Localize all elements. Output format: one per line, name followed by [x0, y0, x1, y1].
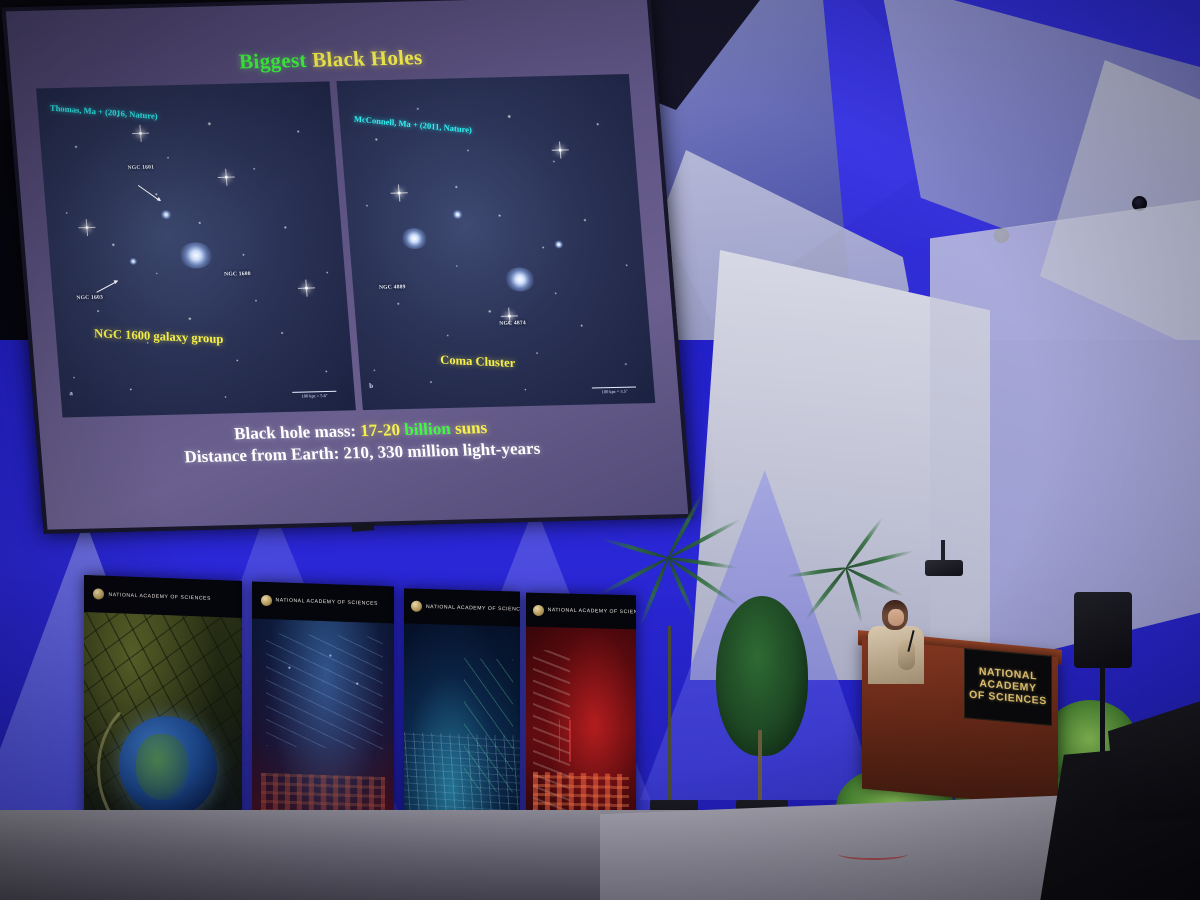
galaxy-label-ngc-1600: NGC 1600 [224, 271, 251, 278]
banner-header-text: NATIONAL ACADEMY OF SCIENCES [108, 592, 210, 602]
screen-frame: Biggest Black Holes Thomas, Ma + (2016, … [1, 0, 692, 534]
conference-hall-photo: Biggest Black Holes Thomas, Ma + (2016, … [0, 0, 1200, 900]
network-globe-graphic [266, 633, 382, 750]
banner-header: NATIONAL ACADEMY OF SCIENCES [252, 582, 394, 624]
galaxy-member [452, 210, 463, 219]
stage-cable [838, 848, 908, 860]
projection-screen-assembly: Biggest Black Holes Thomas, Ma + (2016, … [0, 0, 706, 548]
projected-slide: Biggest Black Holes Thomas, Ma + (2016, … [6, 0, 689, 530]
star-icon [139, 132, 142, 135]
nas-seal-icon [411, 601, 422, 612]
star-icon [398, 192, 401, 195]
ekg-waveform-icon [544, 719, 630, 762]
scale-bar-right: 100 kpc = 3.5" [592, 387, 637, 395]
slide-image-panels: Thomas, Ma + (2016, Nature) NGC 1601 NGC… [36, 74, 655, 417]
footer-mass-suns: suns [454, 418, 488, 438]
caption-ngc-1600-group: NGC 1600 galaxy group [94, 327, 223, 348]
galaxy-ngc-1600 [178, 242, 214, 269]
galaxy-ngc-1601 [160, 210, 172, 219]
galaxy-ngc-4889 [401, 227, 429, 249]
scale-bar-label: 100 kpc = 3.5" [601, 389, 627, 395]
panel-letter-a: a [69, 389, 73, 397]
speaker-torso [868, 626, 924, 684]
slide-title: Biggest Black Holes [9, 40, 652, 81]
ceiling-camera [925, 560, 963, 576]
podium-plaque: NATIONAL ACADEMY OF SCIENCES [964, 648, 1052, 726]
scale-bar-left: 100 kpc = 5.6" [292, 391, 337, 399]
astro-panel-right: McConnell, Ma + (2011, Nature) NGC 4889 … [336, 74, 655, 410]
galaxy-label-ngc-4889: NGC 4889 [379, 284, 406, 291]
speaker-arm [898, 640, 915, 670]
footer-mass-range: 17-20 [360, 420, 401, 440]
palm-tree-right [846, 566, 848, 766]
galaxy-ngc-4874 [504, 267, 536, 292]
banner-header-text: NATIONAL ACADEMY OF SCIENCES [276, 598, 378, 608]
banner-header: NATIONAL ACADEMY OF SCIENCES [84, 575, 242, 619]
galaxy-label-ngc-4874: NGC 4874 [499, 320, 526, 327]
label-arrow [96, 280, 117, 292]
wall-white-panel-right [930, 200, 1200, 680]
banner-header-text: NATIONAL ACADEMY OF SCIENCES [426, 604, 520, 613]
galaxy-label-ngc-1601: NGC 1601 [127, 165, 154, 172]
panel-letter-b: b [369, 382, 374, 390]
slide-title-yellow: Black Holes [311, 45, 423, 72]
palm-tree-left [668, 556, 670, 816]
pa-loudspeaker [1074, 592, 1132, 668]
speaker-face [888, 609, 904, 626]
galaxy-ngc-1603 [129, 257, 138, 264]
camera-mount-arm [941, 540, 945, 562]
star-icon [225, 176, 228, 179]
star-icon [507, 314, 510, 317]
banner-header-text: NATIONAL ACADEMY OF SCIENCES [548, 607, 636, 616]
caption-coma-cluster: Coma Cluster [441, 353, 516, 371]
slide-title-green: Biggest [238, 48, 307, 74]
nas-seal-icon [261, 595, 272, 606]
star-icon [558, 148, 561, 151]
star-icon [304, 286, 307, 289]
nas-seal-icon [93, 589, 104, 600]
footer-mass-label: Black hole mass: [233, 421, 357, 443]
banner-header: NATIONAL ACADEMY OF SCIENCES [404, 588, 520, 627]
speaker-person [868, 600, 924, 680]
slide-footer-text: Black hole mass: 17-20 billion suns Dist… [39, 412, 683, 471]
footer-mass-billion: billion [404, 419, 452, 439]
galaxy-member [554, 240, 564, 248]
scale-bar-label: 100 kpc = 5.6" [301, 393, 327, 399]
banner-header: NATIONAL ACADEMY OF SCIENCES [526, 593, 636, 630]
label-arrow [137, 185, 159, 201]
galaxy-label-ngc-1603: NGC 1603 [76, 295, 103, 302]
star-icon [85, 226, 88, 229]
ficus-tree [716, 596, 808, 756]
astro-panel-left: Thomas, Ma + (2016, Nature) NGC 1601 NGC… [36, 81, 355, 417]
citation-mcconnell-ma: McConnell, Ma + (2011, Nature) [354, 113, 472, 134]
citation-thomas-ma: Thomas, Ma + (2016, Nature) [49, 102, 157, 120]
nas-seal-icon [533, 604, 544, 615]
molecule-graphic [464, 659, 513, 793]
